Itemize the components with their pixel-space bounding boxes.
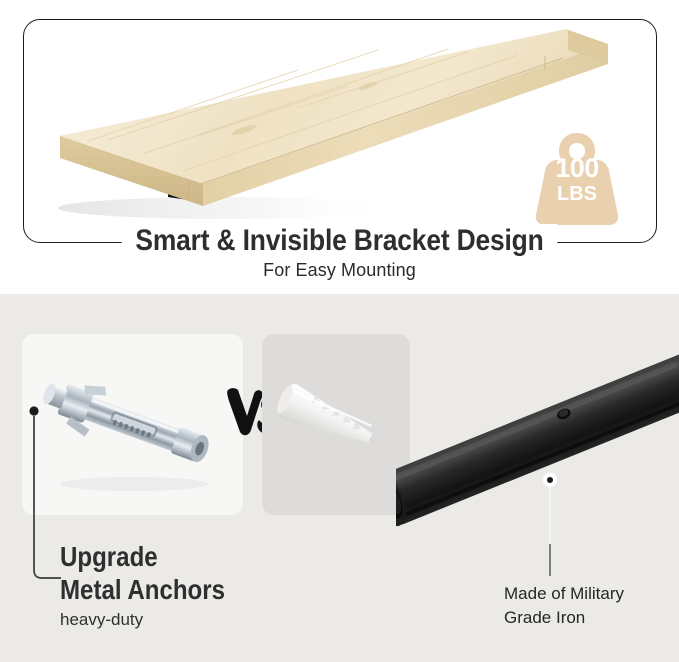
headline-row: Smart & Invisible Bracket Design	[0, 222, 679, 262]
plastic-wall-plug-image	[262, 334, 410, 515]
plastic-anchor-photo-box	[262, 334, 410, 515]
pipe-caption-line2: Grade Iron	[504, 606, 679, 630]
bracket-design-section: 100 LBS Smart & Invisible Bracket Design…	[0, 0, 679, 294]
callout-dot-icon	[530, 472, 570, 582]
pipe-callout-leader	[530, 472, 570, 582]
weight-unit: LBS	[531, 184, 623, 204]
weight-capacity-badge: 100 LBS	[531, 129, 623, 227]
weight-value: 100	[531, 155, 623, 182]
weight-badge-text: 100 LBS	[531, 155, 623, 204]
pipe-caption-line1: Made of Military	[504, 582, 679, 606]
anchor-title-line1: Upgrade	[60, 540, 344, 573]
section-headline: Smart & Invisible Bracket Design	[41, 222, 639, 260]
anchor-callout-subtitle: heavy-duty	[60, 610, 360, 630]
section-subheadline: For Easy Mounting	[0, 260, 679, 281]
pipe-callout-caption: Made of Military Grade Iron	[504, 582, 679, 630]
anchors-and-pipe-section: Upgrade Metal Anchors heavy-duty Made of…	[0, 294, 679, 662]
anchor-title-line2: Metal Anchors	[60, 573, 344, 606]
anchor-callout-title: Upgrade Metal Anchors	[60, 540, 344, 606]
headline-text: Smart & Invisible Bracket Design	[121, 224, 557, 257]
